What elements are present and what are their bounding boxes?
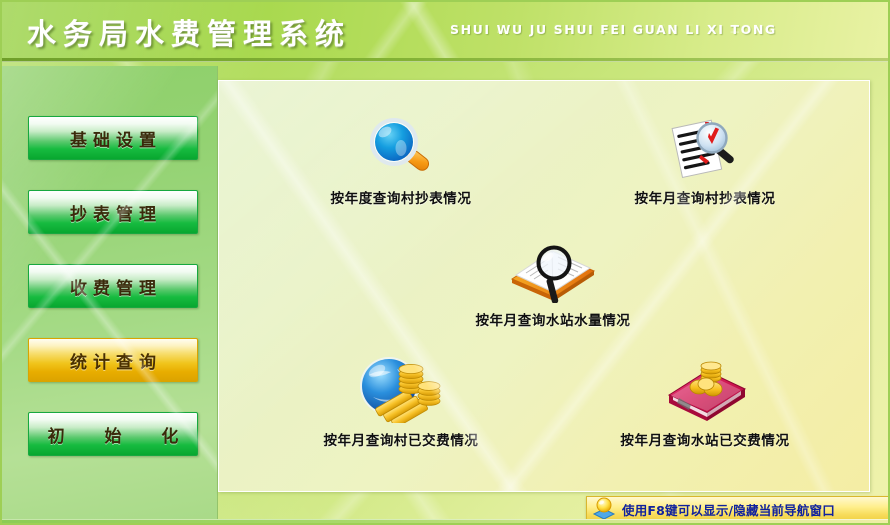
sidebar-item-label: 基础设置 [64,126,162,151]
sidebar-item-label: 抄表管理 [64,200,162,225]
sidebar-item-initialization[interactable]: 初 始 化 [28,412,198,456]
book-magnifier-icon [490,231,616,303]
tile-monthly-station-paid-fees[interactable]: 按年月查询水站已交费情况 [605,351,805,449]
tile-yearly-village-meter-reading[interactable]: 按年度查询村抄表情况 [301,109,501,207]
sidebar-item-label: 收费管理 [64,274,162,299]
sidebar-item-label: 统计查询 [64,348,162,373]
document-magnifier-icon [667,109,743,181]
sidebar-item-meter-reading[interactable]: 抄表管理 [28,190,198,234]
red-book-coins-icon [653,351,757,423]
sidebar-item-fee-collection[interactable]: 收费管理 [28,264,198,308]
application-window: 水务局水费管理系统 SHUI WU JU SHUI FEI GUAN LI XI… [0,0,890,525]
tile-monthly-village-paid-fees[interactable]: 按年月查询村已交费情况 [301,351,501,449]
sidebar-item-basic-settings[interactable]: 基础设置 [28,116,198,160]
tile-caption: 按年度查询村抄表情况 [331,187,472,207]
tile-caption: 按年月查询水站已交费情况 [620,429,789,449]
tile-caption: 按年月查询水站水量情况 [475,309,630,329]
magnifier-blue-icon [366,109,436,181]
globe-coins-icon [353,351,449,423]
status-bar-text: 使用F8键可以显示/隐藏当前导航窗口 [622,500,835,519]
sidebar-item-statistics-query[interactable]: 统计查询 [28,338,198,382]
tile-monthly-village-meter-reading[interactable]: 按年月查询村抄表情况 [605,109,805,207]
app-header: 水务局水费管理系统 SHUI WU JU SHUI FEI GUAN LI XI… [0,0,890,62]
page-title: 水务局水费管理系统 [27,11,351,53]
tile-monthly-station-water-volume[interactable]: 按年月查询水站水量情况 [453,231,653,329]
sidebar-navigation: 基础设置 抄表管理 收费管理 统计查询 初 始 化 [2,66,218,521]
sidebar-item-label: 初 始 化 [31,422,196,447]
page-subtitle-reflection: SHUI WU JU SHUI FEI GUAN LI XI TONG [450,21,777,36]
content-panel: 按年度查询村抄表情况 [218,80,870,492]
tile-caption: 按年月查询村抄表情况 [635,187,776,207]
tile-caption: 按年月查询村已交费情况 [323,429,478,449]
window-bottom-strip [0,519,890,525]
